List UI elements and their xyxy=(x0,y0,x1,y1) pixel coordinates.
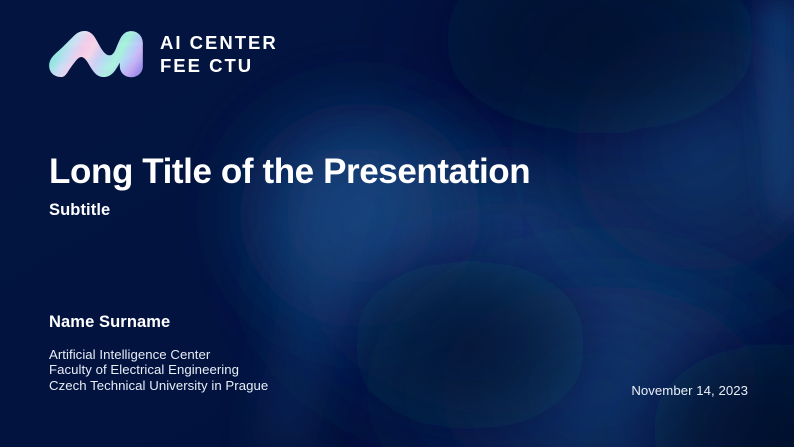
slide-date: November 14, 2023 xyxy=(631,383,748,399)
author-block: Name Surname Artificial Intelligence Cen… xyxy=(49,313,268,394)
author-name: Name Surname xyxy=(49,313,268,333)
affiliation-line: Faculty of Electrical Engineering xyxy=(49,362,268,378)
page-title: Long Title of the Presentation xyxy=(49,152,530,191)
logo-wordmark-line-1: AI CENTER xyxy=(160,32,278,55)
affiliation-line: Czech Technical University in Prague xyxy=(49,378,268,394)
affiliation-line: Artificial Intelligence Center xyxy=(49,347,268,363)
title-slide: AI CENTER FEE CTU Long Title of the Pres… xyxy=(0,0,794,447)
title-block: Long Title of the Presentation Subtitle xyxy=(49,152,530,221)
slide-content: AI CENTER FEE CTU Long Title of the Pres… xyxy=(0,0,794,447)
logo-wordmark: AI CENTER FEE CTU xyxy=(160,32,278,77)
logo-lockup: AI CENTER FEE CTU xyxy=(48,28,278,80)
page-subtitle: Subtitle xyxy=(49,201,530,221)
ai-center-wave-mark-icon xyxy=(48,28,144,80)
affiliation-list: Artificial Intelligence Center Faculty o… xyxy=(49,347,268,394)
logo-wordmark-line-2: FEE CTU xyxy=(160,55,278,78)
